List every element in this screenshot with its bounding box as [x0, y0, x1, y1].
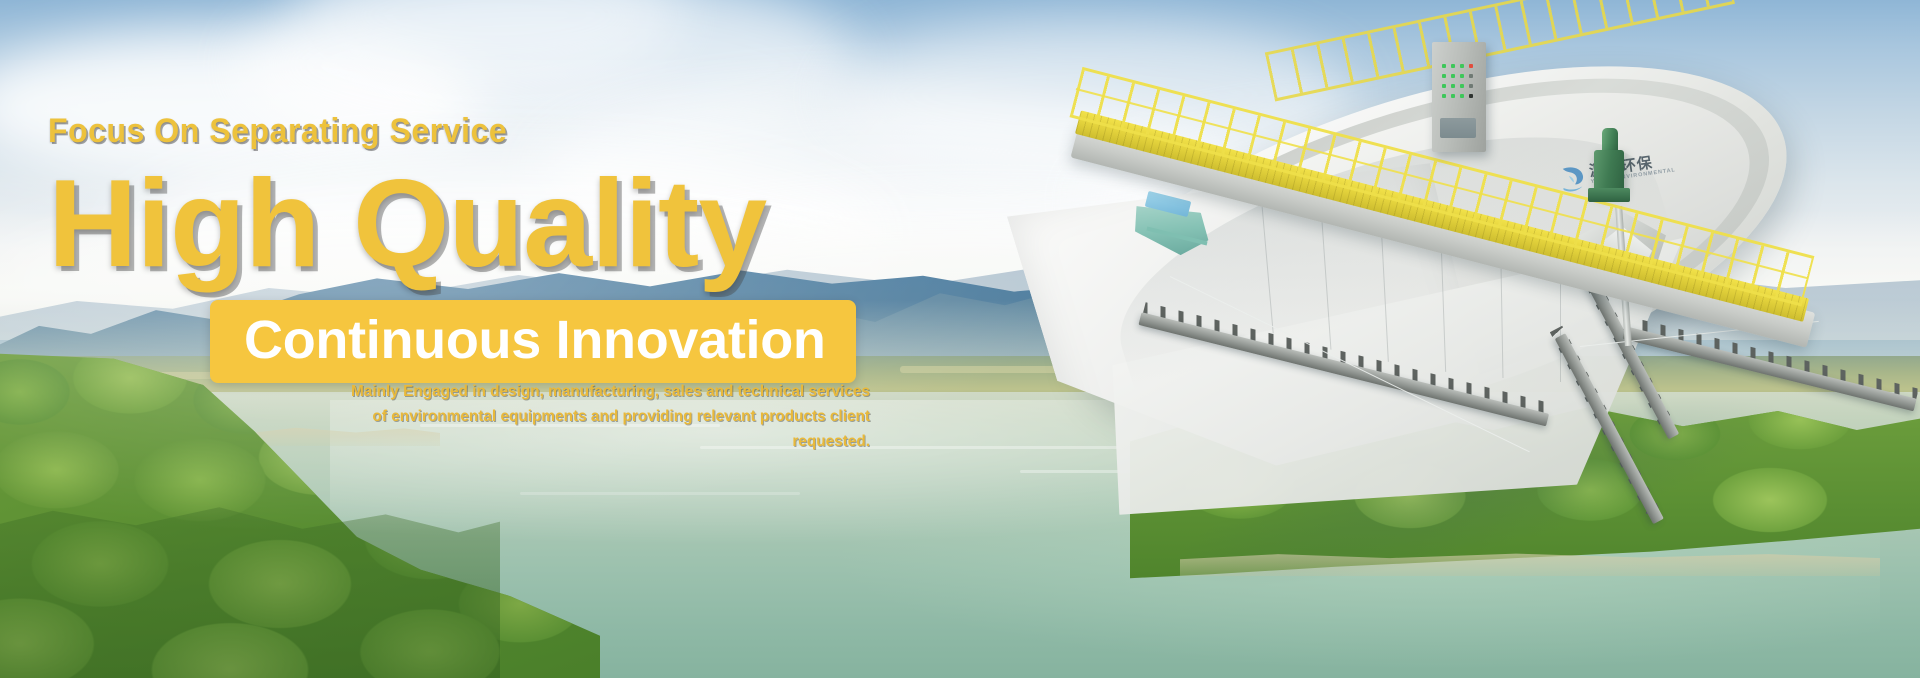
banner-copy-block: Focus On Separating Service High Quality… [0, 0, 1100, 678]
cabinet-indicator-panel [1440, 62, 1478, 106]
status-led [1460, 84, 1464, 88]
status-led [1442, 84, 1446, 88]
status-led [1442, 64, 1446, 68]
clarifier-equipment-render: 源申环保 YOSUN ENVIRONMENTAL [1020, 30, 1920, 570]
hero-banner: 源申环保 YOSUN ENVIRONMENTAL [0, 0, 1920, 678]
status-led [1451, 64, 1455, 68]
status-led [1460, 94, 1464, 98]
banner-description: Mainly Engaged in design, manufacturing,… [332, 380, 870, 454]
banner-kicker: Focus On Separating Service [48, 112, 507, 151]
status-led [1451, 94, 1455, 98]
bird-swoosh-icon [1558, 163, 1588, 194]
gearbox-base [1588, 188, 1630, 202]
banner-tagline: Continuous Innovation [244, 313, 826, 367]
status-led [1451, 74, 1455, 78]
status-led [1460, 64, 1464, 68]
status-led [1442, 74, 1446, 78]
banner-headline: High Quality [48, 160, 766, 289]
status-led [1469, 74, 1473, 78]
status-led [1460, 74, 1464, 78]
status-led [1469, 94, 1473, 98]
status-led [1469, 64, 1473, 68]
status-led [1451, 84, 1455, 88]
status-led [1442, 94, 1446, 98]
banner-tagline-box: Continuous Innovation [210, 300, 856, 383]
status-led [1469, 84, 1473, 88]
cabinet-display-screen [1440, 118, 1476, 138]
